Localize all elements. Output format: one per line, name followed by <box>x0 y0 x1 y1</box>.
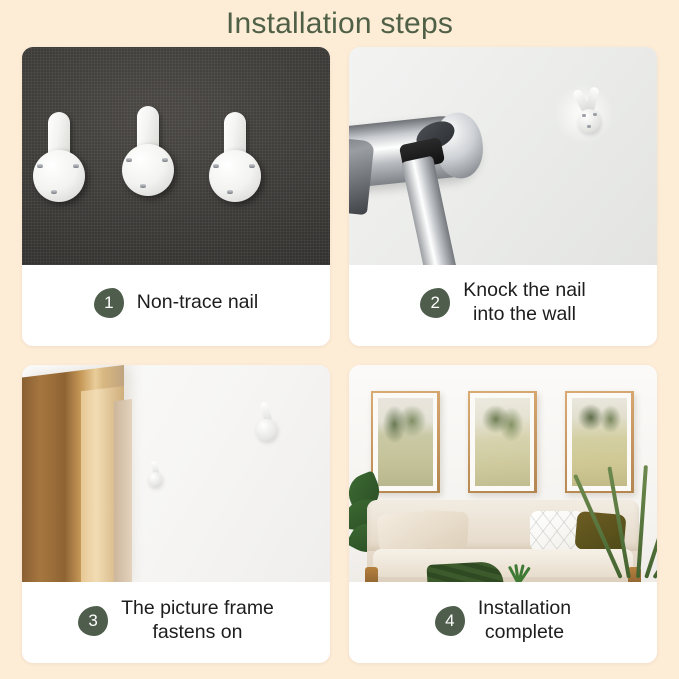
step-4-caption: 4 Installation complete <box>349 582 657 663</box>
hook-pin <box>227 190 233 194</box>
sofa <box>367 500 638 583</box>
step-label-3: The picture frame fastens on <box>121 597 274 645</box>
step-label-4: Installation complete <box>478 597 571 645</box>
hook-pin <box>126 158 132 162</box>
plant-blade <box>636 465 648 578</box>
hook-pin <box>249 164 255 168</box>
sofa-leg-left <box>365 567 379 583</box>
page-title: Installation steps <box>0 4 679 44</box>
step-card-4[interactable]: 4 Installation complete <box>349 365 657 664</box>
art-canvas <box>475 398 530 486</box>
hook-body <box>578 109 600 133</box>
art-mat <box>470 393 534 490</box>
step-4-photo <box>349 365 657 583</box>
step-card-3[interactable]: 3 The picture frame fastens on <box>22 365 330 664</box>
step-3-photo <box>22 365 330 583</box>
step-badge-4: 4 <box>435 606 465 636</box>
hook-disc <box>122 144 174 196</box>
step-3-caption: 3 The picture frame fastens on <box>22 582 330 663</box>
step-badge-2: 2 <box>420 288 450 318</box>
step-2-caption: 2 Knock the nail into the wall <box>349 265 657 346</box>
hook-body <box>148 472 162 487</box>
step-badge-1: 1 <box>94 288 124 318</box>
step-label-2: Knock the nail into the wall <box>463 279 586 327</box>
step-badge-3: 3 <box>78 606 108 636</box>
frame-mat <box>114 399 132 582</box>
hook-disc <box>33 150 85 202</box>
plant-blade <box>653 481 657 579</box>
step-label-1: Non-trace nail <box>137 291 258 315</box>
hook-pin <box>162 158 168 162</box>
step-1-caption: 1 Non-trace nail <box>22 265 330 346</box>
step-2-photo <box>349 47 657 265</box>
fern-plant <box>492 564 541 582</box>
hook-pin <box>140 184 146 188</box>
steps-grid: 1 Non-trace nail 2 <box>22 47 657 663</box>
step-card-1[interactable]: 1 Non-trace nail <box>22 47 330 346</box>
hook-pin <box>213 164 219 168</box>
hook-disc <box>209 150 261 202</box>
pillow-beige-mid <box>418 510 469 551</box>
framed-artwork-2 <box>468 391 537 493</box>
plant-right <box>614 465 657 578</box>
step-card-2[interactable]: 2 Knock the nail into the wall <box>349 47 657 346</box>
step-1-photo <box>22 47 330 265</box>
